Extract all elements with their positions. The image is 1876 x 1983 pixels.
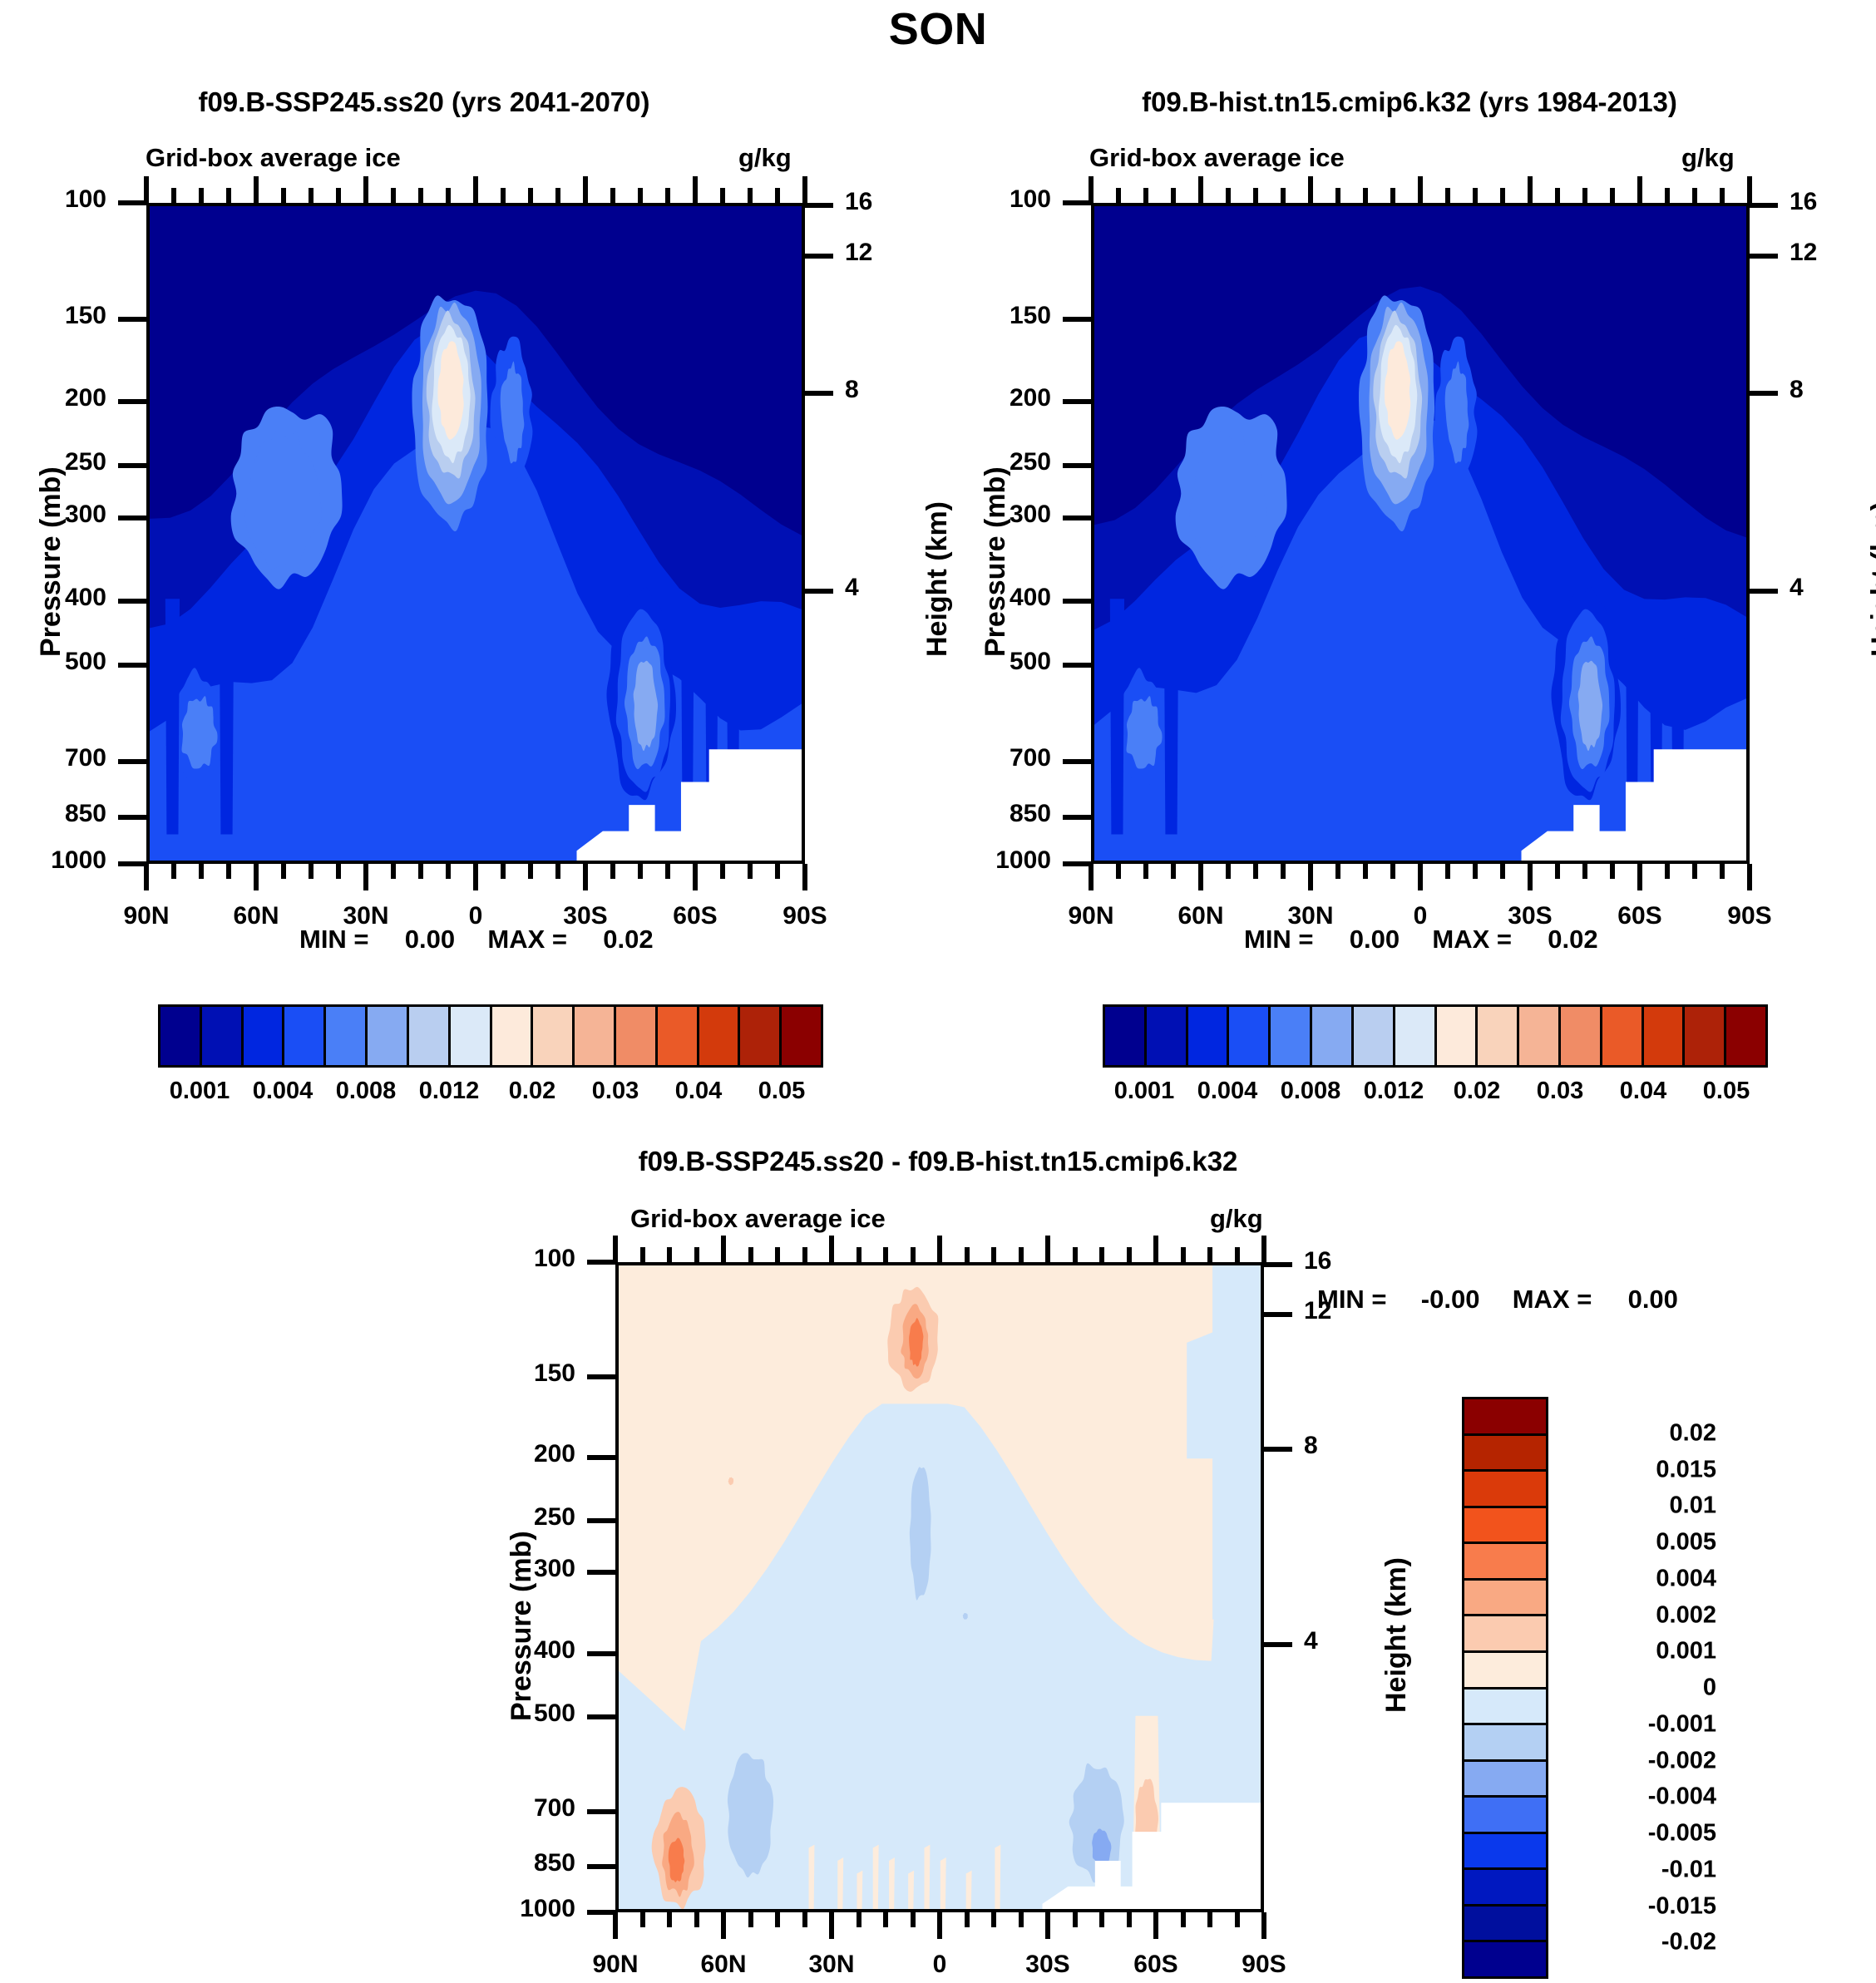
diff-xtick-90N [613,1912,618,1939]
diff-xtopminor [640,1247,645,1262]
right-ytick-250 [1063,463,1091,468]
left-ytick-150 [118,317,146,322]
left-xtick-30S [583,864,588,890]
colorbar-cell-10 [575,1007,616,1065]
right-xminor [1253,864,1258,879]
diff-filament-0 [809,1845,815,1909]
right-xtoptick-30S [1528,176,1533,203]
colorbar-cell-15 [782,1007,821,1065]
colorbar-cell-4 [326,1007,368,1065]
diff-xminor [1127,1912,1132,1927]
right-xtick-30N [1308,864,1313,890]
diff-xtick-60S [1153,1912,1158,1939]
left-hlabel-12: 12 [845,239,920,267]
diff-colorbar-tick-label-neg0.005: -0.005 [1648,1820,1716,1847]
diff-xminor [775,1912,780,1927]
diff-xminor [857,1912,861,1927]
colorbar-cell-9 [1478,1007,1519,1065]
right-xtick-60S [1637,864,1642,890]
left-ytick-300 [118,515,146,520]
left-xtoptick-30S [583,176,588,203]
left-htick-12 [805,254,833,259]
panel-diff-field-label: Grid-box average ice [630,1204,886,1234]
colorbar-cell-1 [1147,1007,1188,1065]
diff-colorbar-tick-label-neg0.002: -0.002 [1648,1747,1716,1774]
left-xminor [501,864,506,879]
diff-xminor [667,1912,672,1927]
diff-xlabel-90S: 90S [1189,1951,1339,1979]
diff-colorbar-cell-4 [1464,1544,1546,1581]
right-ytick-400 [1063,599,1091,604]
min-label-left: MIN = [299,925,369,954]
right-xtopminor [1665,188,1670,203]
diff-strip-sh-polar [1212,1265,1261,1620]
left-ytick-850 [118,815,146,820]
left-ytick-1000 [118,861,146,866]
left-ytick-250 [118,463,146,468]
left-xtopminor [528,188,533,203]
colorbar-tick-label-0.008: 0.008 [336,1078,397,1105]
diff-xtopminor [694,1247,699,1262]
left-xtopminor [199,188,204,203]
left-xtoptick-0 [473,176,478,203]
left-xtoptick-60N [254,176,259,203]
left-ylabel-700: 700 [0,744,106,772]
diff-htick-16 [1264,1262,1292,1267]
diff-xminor [1099,1912,1104,1927]
left-hlabel-4: 4 [845,574,920,602]
diff-xminor [1019,1912,1024,1927]
max-label-right: MAX = [1432,925,1512,954]
colorbar-cell-8 [492,1007,534,1065]
left-xminor [309,864,313,879]
diff-colorbar-cell-3 [1464,1508,1546,1545]
left-xtick-90S [802,864,807,890]
right-xtopminor [1143,188,1148,203]
diff-xtoptick-30N [829,1236,834,1262]
right-ytick-100 [1063,200,1091,205]
diff-ytick-300 [587,1570,615,1575]
left-xtopminor [638,188,643,203]
diff-colorbar-cell-7 [1464,1653,1546,1689]
right-xminor [1500,864,1505,879]
diff-xtoptick-0 [937,1236,942,1262]
diff-filament-2 [857,1871,862,1909]
left-xtoptick-60S [693,176,698,203]
diff-colorbar-cell-6 [1464,1616,1546,1653]
colorbar-cell-13 [1644,1007,1686,1065]
diff-colorbar-cell-11 [1464,1798,1546,1834]
colorbar-tick-label-0.04: 0.04 [1620,1078,1666,1105]
right-xminor [1692,864,1697,879]
right-htick-12 [1750,254,1778,259]
left-ylabel-100: 100 [0,185,106,214]
colorbar-cell-7 [451,1007,492,1065]
colorbar-tick-label-0.05: 0.05 [1703,1078,1750,1105]
left-xtoptick-30N [363,176,368,203]
diff-xtopminor [911,1247,916,1262]
diff-xtopminor [1073,1247,1078,1262]
right-htick-8 [1750,391,1778,396]
colorbar-labels-right-panel: 0.0010.0040.0080.0120.020.030.040.05 [1103,1078,1768,1111]
diff-xtopminor [991,1247,996,1262]
right-ytick-300 [1063,515,1091,520]
left-xminor [391,864,396,879]
right-ytick-850 [1063,815,1091,820]
colorbar-cell-12 [658,1007,699,1065]
diff-colorbar-cell-0 [1464,1399,1546,1436]
diff-filament-7 [940,1857,946,1909]
colorbar-tick-label-0.03: 0.03 [1537,1078,1583,1105]
left-xtopminor [391,188,396,203]
right-xminor [1171,864,1176,879]
diff-hlabel-4: 4 [1304,1627,1379,1655]
right-ylabel-850: 850 [916,800,1051,828]
diff-colorbar-tick-label-0.004: 0.004 [1656,1565,1716,1592]
diff-ytick-400 [587,1651,615,1656]
left-xminor [748,864,753,879]
diff-colorbar-tick-label-neg0.004: -0.004 [1648,1783,1716,1811]
left-xlabel-90S: 90S [730,902,880,930]
diff-ytick-200 [587,1455,615,1460]
right-xminor [1226,864,1231,879]
left-xminor [720,864,725,879]
panel-left-field-label: Grid-box average ice [146,143,401,173]
left-ylabel-1000: 1000 [0,846,106,875]
diff-ylabel-700: 700 [441,1794,575,1823]
diff-xtopminor [857,1247,861,1262]
colorbar-tick-label-0.05: 0.05 [758,1078,805,1105]
diff-xtopminor [802,1247,807,1262]
left-xminor [638,864,643,879]
right-xminor [1582,864,1587,879]
left-xminor [775,864,780,879]
diff-colorbar-cell-2 [1464,1472,1546,1508]
right-xtopminor [1281,188,1286,203]
diff-xminor [1181,1912,1186,1927]
right-xminor [1720,864,1725,879]
colorbar-cell-1 [202,1007,244,1065]
max-value-right: 0.02 [1548,925,1597,954]
left-xtopminor [446,188,451,203]
diff-ylabel-100: 100 [441,1245,575,1273]
diff-xminor [1207,1912,1212,1927]
diff-filament-3 [873,1845,879,1909]
colorbar-tick-label-0.03: 0.03 [592,1078,639,1105]
diff-xminor [802,1912,807,1927]
left-xtick-0 [473,864,478,890]
diff-xminor [965,1912,970,1927]
colorbar-cell-0 [1105,1007,1147,1065]
y-axis-title-diff-panel: Pressure (mb) [506,1531,538,1721]
colorbar-cell-12 [1602,1007,1644,1065]
colorbar-cell-8 [1437,1007,1479,1065]
right-xtopminor [1116,188,1121,203]
left-xtick-90N [144,864,149,890]
right-ytick-1000 [1063,861,1091,866]
diff-filament-5 [908,1871,914,1909]
left-ytick-200 [118,399,146,404]
colorbar-cell-11 [616,1007,658,1065]
diff-xtick-60N [721,1912,726,1939]
left-xtopminor [610,188,615,203]
left-htick-4 [805,589,833,594]
colorbar-cell-13 [699,1007,741,1065]
diff-xtopminor [1019,1247,1024,1262]
diff-ytick-150 [587,1374,615,1379]
diff-xminor [640,1912,645,1927]
colorbar-tick-label-0.001: 0.001 [170,1078,230,1105]
panel-diff-units: g/kg [1210,1204,1263,1234]
diff-xtopminor [667,1247,672,1262]
panel-right-field-label: Grid-box average ice [1089,143,1345,173]
min-label-diff: MIN = [1317,1285,1387,1314]
colorbar-cell-14 [740,1007,782,1065]
right-ylabel-200: 200 [916,384,1051,412]
diff-colorbar-cell-5 [1464,1581,1546,1617]
right-xtoptick-60N [1198,176,1203,203]
left-htick-8 [805,391,833,396]
figure-super-title: SON [0,3,1876,55]
right-xtick-90N [1089,864,1094,890]
right-hlabel-16: 16 [1790,188,1864,216]
left-xminor [555,864,560,879]
diff-colorbar-tick-label-0.02: 0.02 [1670,1419,1716,1447]
right-ytick-200 [1063,399,1091,404]
left-xminor [665,864,670,879]
diff-colorbar-tick-label-0.015: 0.015 [1656,1456,1716,1483]
diff-xtopminor [1099,1247,1104,1262]
diff-colorbar-cell-10 [1464,1762,1546,1798]
left-xminor [171,864,176,879]
left-xtick-60N [254,864,259,890]
panel-left-title: f09.B-SSP245.ss20 (yrs 2041-2070) [50,86,798,118]
colorbar-tick-label-0.012: 0.012 [1364,1078,1424,1105]
left-hlabel-8: 8 [845,376,920,404]
diff-colorbar-tick-label-0.002: 0.002 [1656,1601,1716,1629]
colorbar-cell-2 [244,1007,285,1065]
left-xtopminor [281,188,286,203]
diff-xtick-30N [829,1912,834,1939]
diff-hlabel-16: 16 [1304,1247,1379,1275]
height-axis-title-diff-panel: Height (km) [1380,1557,1413,1713]
height-axis-title-right-panel: Height (km) [1866,501,1876,657]
right-htick-4 [1750,589,1778,594]
diff-ytick-700 [587,1809,615,1814]
right-xminor [1116,864,1121,879]
diff-xtick-0 [937,1912,942,1939]
diff-xtoptick-90N [613,1236,618,1262]
diff-ylabel-850: 850 [441,1849,575,1877]
left-xtoptick-90S [802,176,807,203]
left-hlabel-16: 16 [845,188,920,216]
contour-finger-nh-0 [1110,599,1124,834]
right-htick-16 [1750,203,1778,208]
left-ytick-700 [118,759,146,764]
diff-filament-9 [995,1845,1000,1909]
diff-colorbar-tick-label-neg0.015: -0.015 [1648,1892,1716,1920]
left-xtopminor [418,188,423,203]
diff-ytick-1000 [587,1910,615,1915]
y-axis-title-right-panel: Pressure (mb) [980,466,1012,657]
colorbar-cell-15 [1726,1007,1765,1065]
right-xtopminor [1555,188,1560,203]
right-xlabel-90S: 90S [1675,902,1824,930]
left-xtopminor [501,188,506,203]
left-xtoptick-90N [144,176,149,203]
left-xtopminor [748,188,753,203]
right-xminor [1555,864,1560,879]
diff-xtick-30S [1045,1912,1050,1939]
left-ylabel-150: 150 [0,302,106,330]
right-xtopminor [1610,188,1615,203]
left-xtopminor [720,188,725,203]
diff-xminor [883,1912,888,1927]
diff-xtopminor [1207,1247,1212,1262]
panel-diff-title: f09.B-SSP245.ss20 - f09.B-hist.tn15.cmip… [481,1146,1395,1177]
colorbar-cell-5 [368,1007,409,1065]
diff-xtopminor [1181,1247,1186,1262]
left-ytick-500 [118,663,146,668]
colorbar-labels-left-panel: 0.0010.0040.0080.0120.020.030.040.05 [158,1078,823,1111]
panel-right-units: g/kg [1681,143,1735,173]
right-xtoptick-30N [1308,176,1313,203]
diff-colorbar-cell-1 [1464,1436,1546,1472]
diff-htick-8 [1264,1447,1292,1452]
diff-colorbar-cell-9 [1464,1725,1546,1762]
diff-ylabel-150: 150 [441,1359,575,1388]
diff-xtopminor [1235,1247,1240,1262]
colorbar-cell-2 [1188,1007,1230,1065]
colorbar-tick-label-0.001: 0.001 [1114,1078,1175,1105]
right-ylabel-700: 700 [916,744,1051,772]
plot-area-right [1091,203,1750,864]
max-label-diff: MAX = [1513,1285,1592,1314]
diff-xminor [991,1912,996,1927]
right-xminor [1281,864,1286,879]
colorbar-tick-label-0.008: 0.008 [1281,1078,1341,1105]
colorbar-cell-6 [409,1007,451,1065]
diff-xtopminor [965,1247,970,1262]
diff-patch-sh-upper [1187,1329,1219,1458]
right-xminor [1335,864,1340,879]
diff-ylabel-250: 250 [441,1503,575,1532]
left-xminor [446,864,451,879]
colorbar-tick-label-0.02: 0.02 [1454,1078,1500,1105]
diff-xtopminor [1127,1247,1132,1262]
diff-colorbar-cell-13 [1464,1870,1546,1907]
diff-colorbar-tick-label-neg0.01: -0.01 [1661,1856,1716,1883]
diff-htick-12 [1264,1312,1292,1317]
diff-xminor [1235,1912,1240,1927]
diff-colorbar-cell-15 [1464,1942,1546,1976]
right-xtopminor [1363,188,1368,203]
diff-colorbar-tick-label-0: 0 [1703,1675,1716,1702]
left-ylabel-850: 850 [0,800,106,828]
diff-xtopminor [748,1247,753,1262]
left-ylabel-200: 200 [0,384,106,412]
right-xtopminor [1473,188,1478,203]
right-hlabel-4: 4 [1790,574,1864,602]
diff-colorbar-tick-label-0.001: 0.001 [1656,1638,1716,1665]
right-ytick-700 [1063,759,1091,764]
diff-ytick-250 [587,1518,615,1523]
right-xtopminor [1253,188,1258,203]
left-xminor [528,864,533,879]
minmax-diff-panel: MIN = -0.00 MAX = 0.00 [1317,1285,1678,1315]
diff-hlabel-8: 8 [1304,1432,1379,1460]
left-xtopminor [775,188,780,203]
right-xtopminor [1335,188,1340,203]
right-ytick-500 [1063,663,1091,668]
diff-xtoptick-60S [1153,1236,1158,1262]
right-ytick-150 [1063,317,1091,322]
colorbar-cell-5 [1312,1007,1354,1065]
diff-xminor [694,1912,699,1927]
diff-colorbar-tick-label-0.01: 0.01 [1670,1492,1716,1520]
right-ylabel-100: 100 [916,185,1051,214]
right-xtick-0 [1418,864,1423,890]
left-xtick-60S [693,864,698,890]
diff-filament-6 [924,1845,930,1909]
colorbar-cell-11 [1561,1007,1602,1065]
diff-xtoptick-30S [1045,1236,1050,1262]
diff-colorbar-cell-12 [1464,1834,1546,1871]
left-xminor [418,864,423,879]
diff-ylabel-1000: 1000 [441,1895,575,1923]
colorbar-tick-label-0.02: 0.02 [509,1078,555,1105]
left-xminor [610,864,615,879]
right-xtopminor [1582,188,1587,203]
max-label-left: MAX = [487,925,567,954]
left-xminor [336,864,341,879]
left-xtick-30N [363,864,368,890]
max-value-left: 0.02 [603,925,653,954]
colorbar-cell-14 [1685,1007,1726,1065]
plot-area-left [146,203,805,864]
right-ylabel-1000: 1000 [916,846,1051,875]
right-xtoptick-0 [1418,176,1423,203]
contour-finger-nh-1 [220,619,234,835]
diff-xminor [748,1912,753,1927]
colorbar-cell-7 [1395,1007,1437,1065]
diff-filament-1 [837,1857,843,1909]
contour-finger-nh-0 [165,599,180,834]
colorbar-labels-difference-panel: 0.020.0150.010.0050.0040.0020.0010-0.001… [1567,1397,1716,1979]
left-ytick-100 [118,200,146,205]
colorbar-right-panel [1103,1004,1768,1068]
minmax-right-panel: MIN = 0.00 MAX = 0.02 [1244,925,1598,955]
right-xtopminor [1445,188,1450,203]
colorbar-cell-4 [1271,1007,1312,1065]
colorbar-difference-panel [1462,1397,1548,1979]
colorbar-cell-6 [1354,1007,1395,1065]
colorbar-tick-label-0.012: 0.012 [419,1078,480,1105]
diff-colorbar-tick-label-neg0.02: -0.02 [1661,1929,1716,1956]
right-xtopminor [1720,188,1725,203]
right-xtopminor [1226,188,1231,203]
diff-filament-4 [889,1857,895,1909]
right-xminor [1363,864,1368,879]
left-ytick-400 [118,599,146,604]
left-xtopminor [336,188,341,203]
right-hlabel-12: 12 [1790,239,1864,267]
diff-htick-4 [1264,1642,1292,1647]
right-xtopminor [1692,188,1697,203]
min-value-diff: -0.00 [1421,1285,1480,1314]
colorbar-cell-9 [533,1007,575,1065]
diff-xtopminor [883,1247,888,1262]
